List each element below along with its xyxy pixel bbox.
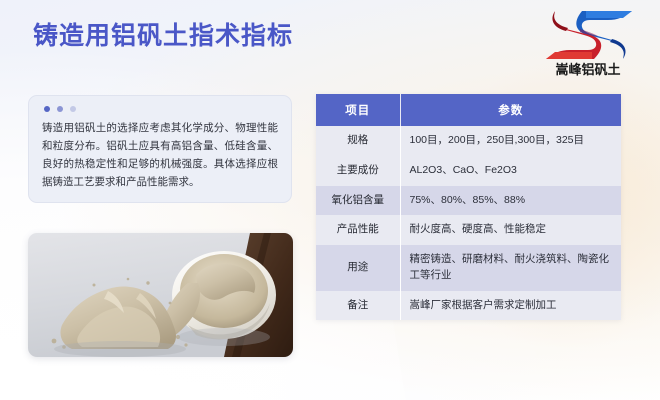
card-dots-indicator [44,106,278,112]
dot-2-icon [57,106,63,112]
row-value: 耐火度高、硬度高、性能稳定 [400,215,621,245]
table-row: 用途 精密铸造、研磨材料、耐火浇筑料、陶瓷化工等行业 [316,245,621,291]
row-key: 备注 [316,291,400,321]
logo-blue-highlight [586,11,632,18]
row-key: 产品性能 [316,215,400,245]
description-card: 铸造用铝矾土的选择应考虑其化学成分、物理性能和粒度分布。铝矾土应具有高铝含量、低… [28,95,292,203]
row-key: 规格 [316,126,400,156]
row-value: 嵩峰厂家根据客户需求定制加工 [400,291,621,321]
dot-3-icon [70,106,76,112]
logo-blue-shadow [610,39,626,59]
row-value: 75%、80%、85%、88% [400,186,621,216]
table-header-row: 项目 参数 [316,94,621,126]
row-value: AL2O3、CaO、Fe2O3 [400,156,621,186]
page-title: 铸造用铝矾土指术指标 [33,22,293,51]
product-photo [28,233,293,357]
column-header-parameter: 参数 [400,94,621,126]
table-row: 规格 100目，200目，250目,300目，325目 [316,126,621,156]
songfeng-s-monogram-icon [528,5,648,65]
logo-red-highlight [546,52,592,59]
table-row: 备注 嵩峰厂家根据客户需求定制加工 [316,291,621,321]
row-key: 主要成份 [316,156,400,186]
table-row: 主要成份 AL2O3、CaO、Fe2O3 [316,156,621,186]
brand-logo: 嵩峰铝矾土 [528,5,648,81]
description-text: 铸造用铝矾土的选择应考虑其化学成分、物理性能和粒度分布。铝矾土应具有高铝含量、低… [42,119,278,191]
table-row: 产品性能 耐火度高、硬度高、性能稳定 [316,215,621,245]
logo-red-shadow [552,11,568,31]
row-value: 100目，200目，250目,300目，325目 [400,126,621,156]
logo-wordmark: 嵩峰铝矾土 [528,59,648,78]
row-key: 氧化铝含量 [316,186,400,216]
slide-canvas: 铸造用铝矾土指术指标 嵩峰铝矾土 铸造用铝矾土的选择应考虑其化学成分、物理性能和… [0,0,660,400]
column-header-item: 项目 [316,94,400,126]
dot-1-icon [44,106,50,112]
table-row: 氧化铝含量 75%、80%、85%、88% [316,186,621,216]
row-value: 精密铸造、研磨材料、耐火浇筑料、陶瓷化工等行业 [400,245,621,291]
bauxite-powder-illustration [28,233,293,357]
specification-table: 项目 参数 规格 100目，200目，250目,300目，325目 主要成份 A… [316,94,621,320]
row-key: 用途 [316,245,400,291]
